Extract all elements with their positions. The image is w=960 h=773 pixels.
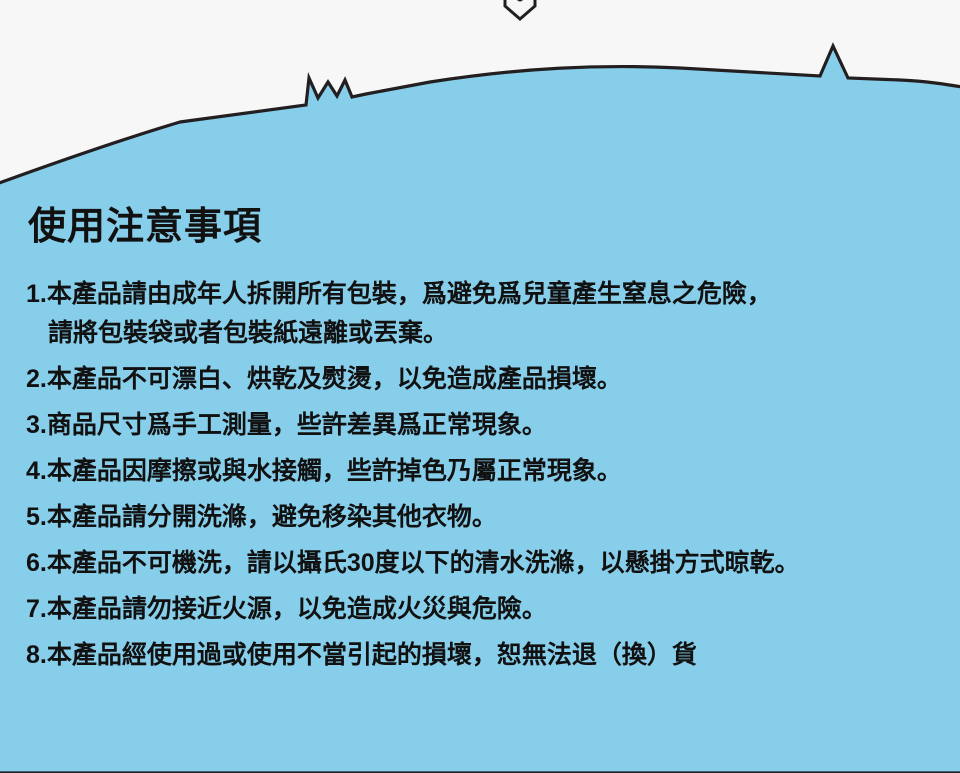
care-instructions-panel: 使用注意事項 1.本產品請由成年人拆開所有包裝，爲避免爲兒童產生窒息之危險， 請… <box>0 0 960 773</box>
note-line: 3.商品尺寸爲手工測量，些許差異爲正常現象。 <box>26 413 946 438</box>
list-item: 6.本產品不可機洗，請以攝氏30度以下的清水洗滌，以懸掛方式晾乾。 <box>26 551 946 576</box>
note-line: 6.本產品不可機洗，請以攝氏30度以下的清水洗滌，以懸掛方式晾乾。 <box>26 551 946 576</box>
note-line: 2.本產品不可漂白、烘乾及熨燙，以免造成產品損壞。 <box>26 367 946 392</box>
note-line: 7.本產品請勿接近火源，以免造成火災與危險。 <box>26 597 946 622</box>
list-item: 8.本產品經使用過或使用不當引起的損壞，恕無法退（換）貨 <box>26 643 946 668</box>
note-line: 8.本產品經使用過或使用不當引起的損壞，恕無法退（換）貨 <box>26 643 946 668</box>
note-line-continuation: 請將包裝袋或者包裝紙遠離或丟棄。 <box>26 321 946 346</box>
note-line: 5.本產品請分開洗滌，避免移染其他衣物。 <box>26 505 946 530</box>
list-item: 1.本產品請由成年人拆開所有包裝，爲避免爲兒童產生窒息之危險， 請將包裝袋或者包… <box>26 282 946 346</box>
page-title: 使用注意事項 <box>28 207 262 249</box>
panel-content: 使用注意事項 1.本產品請由成年人拆開所有包裝，爲避免爲兒童產生窒息之危險， 請… <box>0 0 960 773</box>
list-item: 2.本產品不可漂白、烘乾及熨燙，以免造成產品損壞。 <box>26 367 946 392</box>
list-item: 3.商品尺寸爲手工測量，些許差異爲正常現象。 <box>26 413 946 438</box>
list-item: 4.本產品因摩擦或與水接觸，些許掉色乃屬正常現象。 <box>26 459 946 484</box>
note-line: 1.本產品請由成年人拆開所有包裝，爲避免爲兒童產生窒息之危險， <box>26 282 946 307</box>
notes-list: 1.本產品請由成年人拆開所有包裝，爲避免爲兒童產生窒息之危險， 請將包裝袋或者包… <box>26 282 946 689</box>
note-line: 4.本產品因摩擦或與水接觸，些許掉色乃屬正常現象。 <box>26 459 946 484</box>
list-item: 5.本產品請分開洗滌，避免移染其他衣物。 <box>26 505 946 530</box>
list-item: 7.本產品請勿接近火源，以免造成火災與危險。 <box>26 597 946 622</box>
